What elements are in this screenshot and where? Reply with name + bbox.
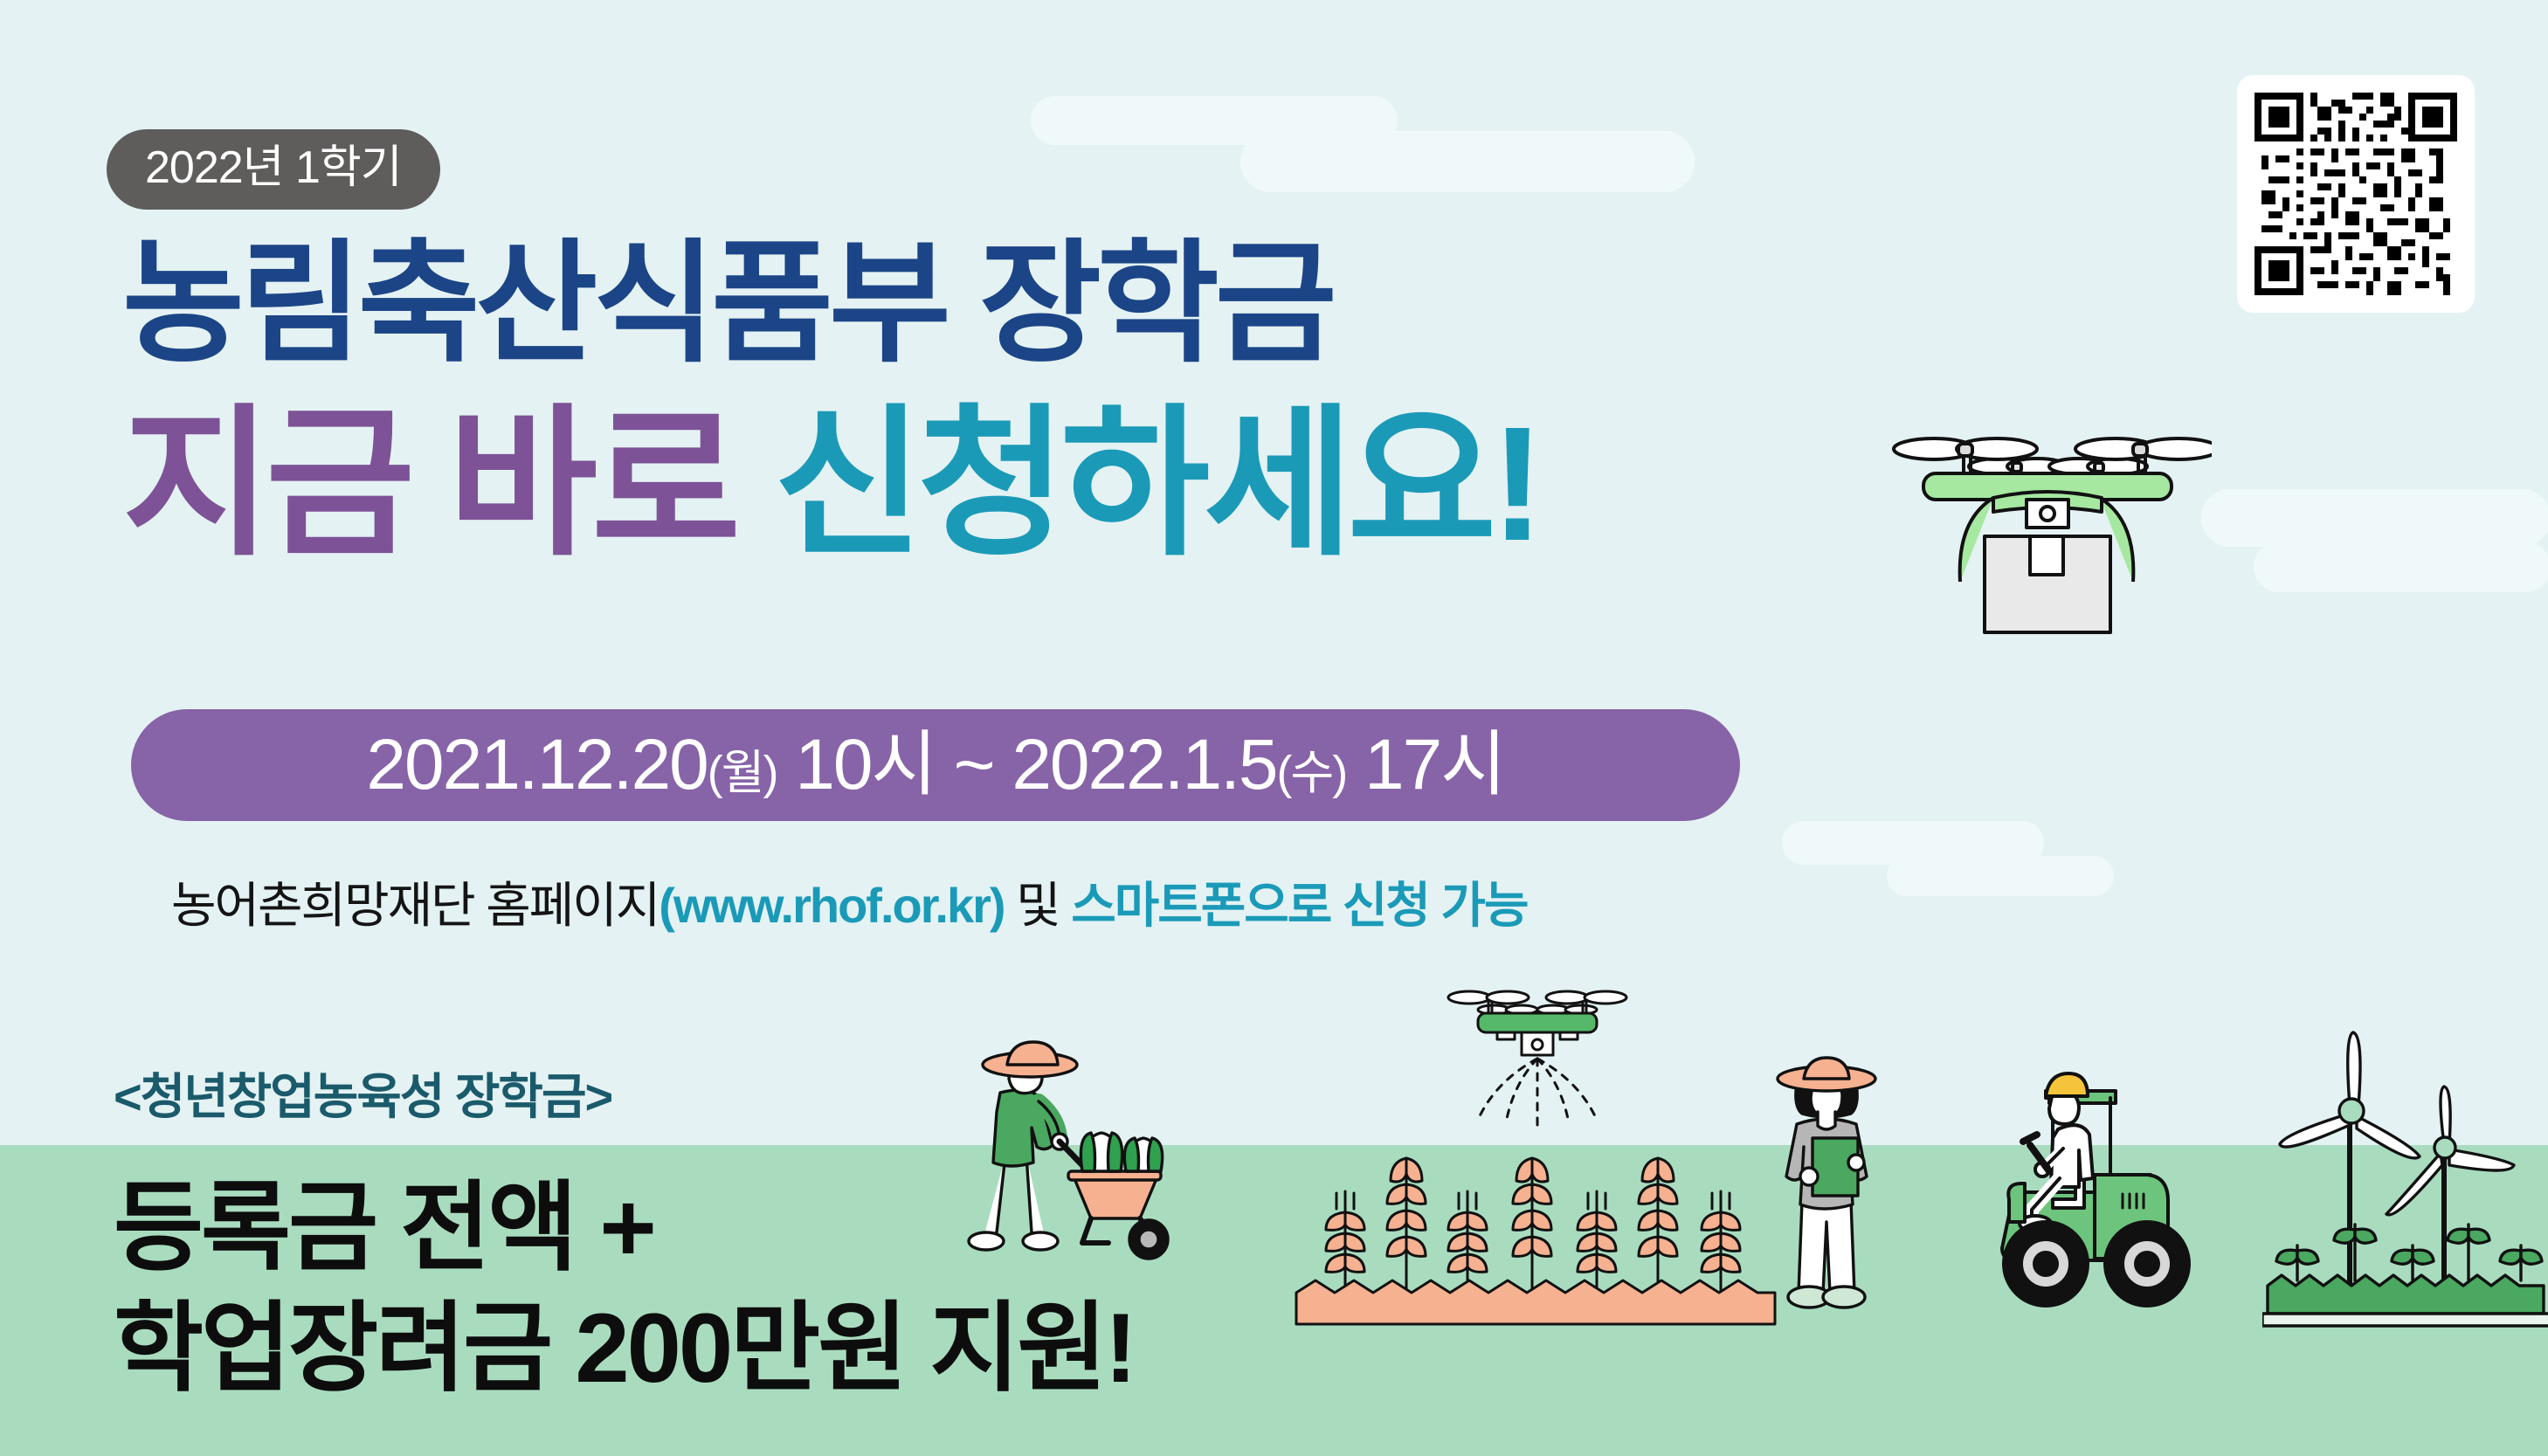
website-url[interactable]: (www.rhof.or.kr) [659,878,1004,933]
scholarship-promo-banner: 2022년 1학기 농림축산식품부 장학금 지금 바로 신청하세요! 2021.… [0,0,2548,1456]
benefit-line-2: 학업장려금 200만원 지원! [114,1300,1135,1397]
application-period-text: 2021.12.20(월) 10시 ~ 2022.1.5(수) 17시 [366,729,1504,801]
application-period-pill: 2021.12.20(월) 10시 ~ 2022.1.5(수) 17시 [131,709,1740,821]
cloud-2 [1240,131,1695,192]
page-title: 농림축산식품부 장학금 [122,238,1333,370]
wind-turbines-icon [2262,1031,2548,1332]
scholarship-type-label: <청년창업농육성 장학금> [114,1073,611,1121]
end-date: 2022.1.5 [1012,725,1276,804]
call-to-action-headline: 지금 바로 신청하세요! [122,404,1538,566]
spraying-drone-icon [1424,978,1651,1153]
apply-method-line: 농어촌희망재단 홈페이지(www.rhof.or.kr) 및 스마트폰으로 신청… [171,881,1528,930]
apply-middle: 및 [1005,878,1072,933]
wheat-field-icon [1293,1153,1782,1328]
start-date: 2021.12.20 [366,725,707,804]
start-time: 10시 ~ [777,725,1012,804]
farmer-wheelbarrow-icon [929,1033,1234,1295]
cta-part-teal: 신청하세요! [774,394,1539,575]
cloud-3 [2201,489,2548,547]
person-with-tablet-icon [1767,1035,1994,1315]
cloud-6 [1887,856,2114,896]
delivery-drone-icon [1866,409,2212,650]
apply-suffix: 스마트폰으로 신청 가능 [1071,878,1527,933]
start-day: (월) [708,747,777,799]
end-time: 17시 [1346,725,1504,804]
apply-prefix: 농어촌희망재단 홈페이지 [171,878,659,933]
end-day: (수) [1277,747,1347,799]
semester-badge: 2022년 1학기 [107,129,440,210]
cloud-4 [2254,542,2548,592]
qr-code[interactable] [2237,75,2475,313]
qr-code-image [2255,93,2457,295]
cta-part-purple: 지금 바로 [122,394,774,575]
benefit-line-1: 등록금 전액 + [114,1179,654,1277]
